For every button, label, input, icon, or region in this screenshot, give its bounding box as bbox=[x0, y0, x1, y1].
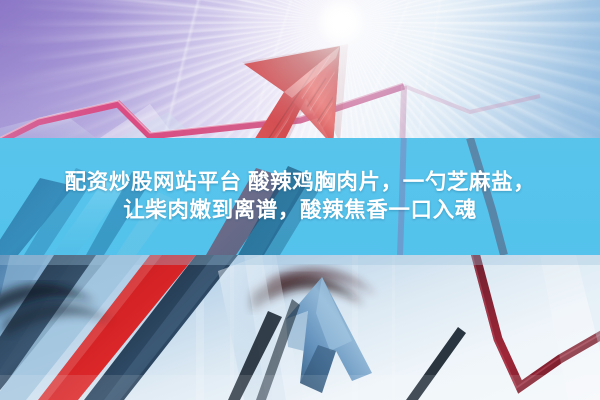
bottom-shard-group bbox=[0, 255, 600, 400]
bottom-panel-topedge bbox=[0, 255, 600, 265]
caption-band bbox=[0, 138, 600, 255]
bottom-abstract-panel bbox=[0, 255, 600, 400]
caption-band-shapes bbox=[0, 138, 600, 255]
banner-image: 配资炒股网站平台 酸辣鸡胸肉片，一勺芝麻盐， 让柴肉嫩到离谱，酸辣焦香一口入魂 bbox=[0, 0, 600, 400]
bottom-haze bbox=[0, 375, 600, 400]
